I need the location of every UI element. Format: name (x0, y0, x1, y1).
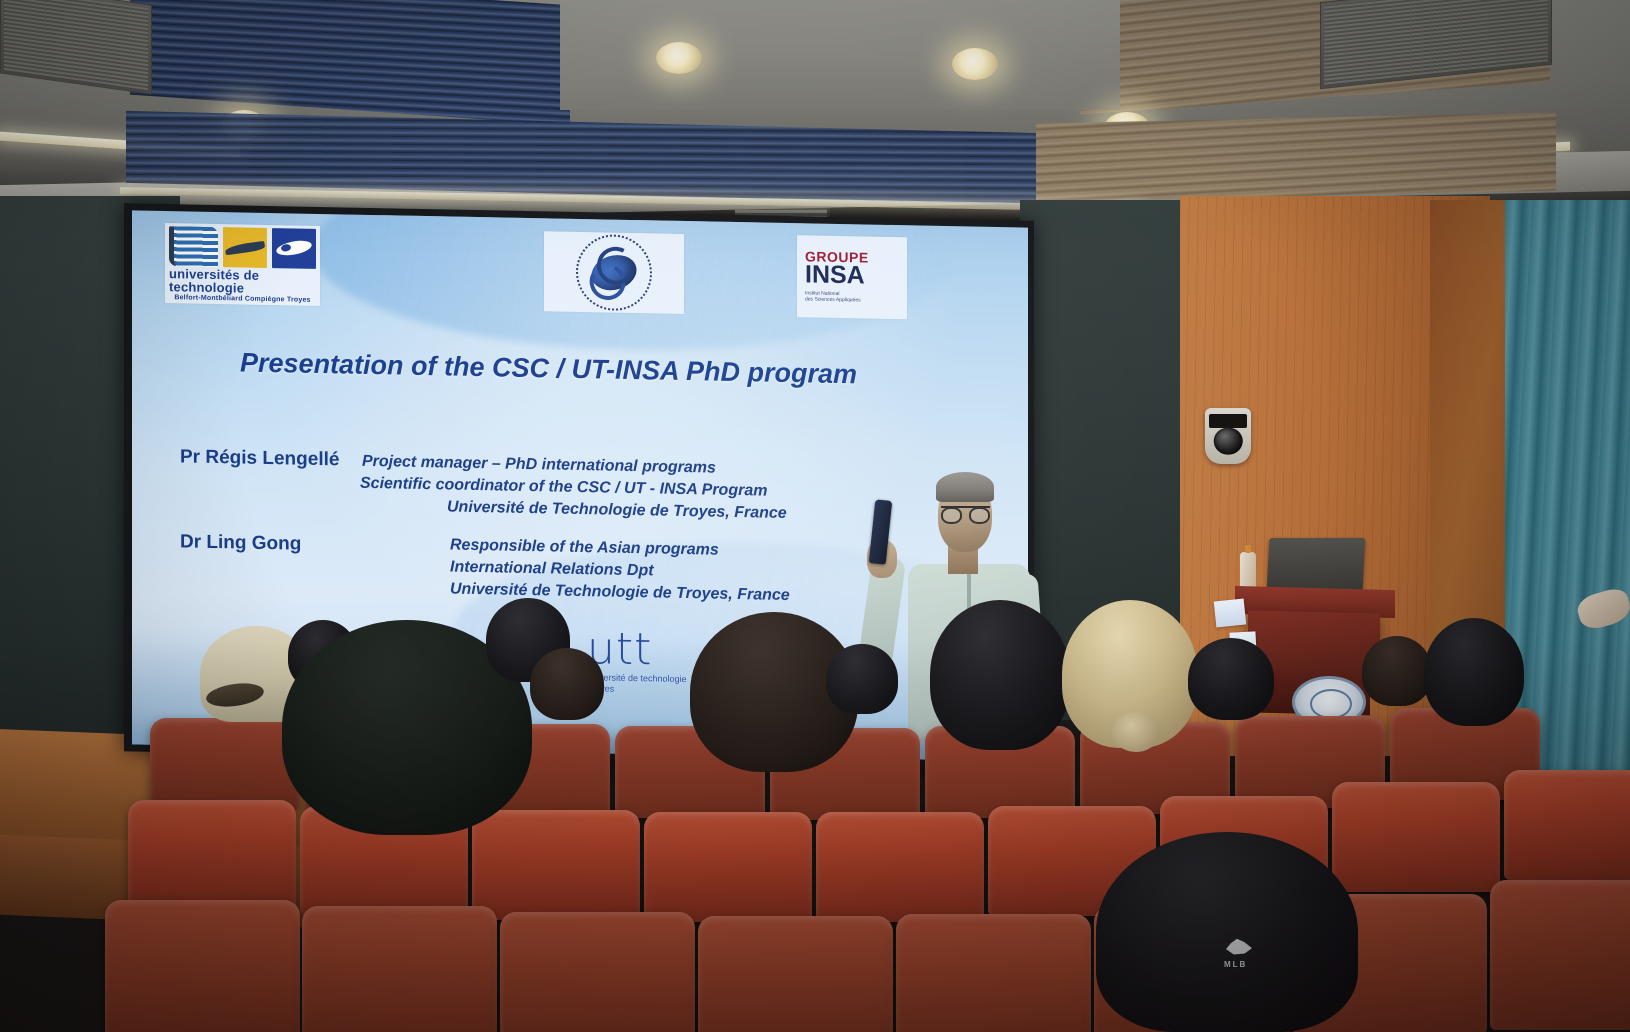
ceiling-panel-blue-left (130, 0, 570, 125)
logo-groupe-insa: GROUPE INSA Institut National des Scienc… (797, 235, 907, 319)
seat-front-2[interactable] (302, 906, 497, 1032)
wall-camera-icon (1205, 408, 1251, 464)
seat-front-3[interactable] (500, 912, 695, 1032)
hair (1424, 618, 1524, 726)
hair-bun (1112, 712, 1160, 752)
audience-member-foreground (1096, 832, 1358, 1032)
ceiling-vent-left (0, 0, 152, 95)
seat-front-8[interactable] (1490, 880, 1630, 1030)
hair (1096, 832, 1358, 1032)
wall-camera-lens-icon (1214, 428, 1243, 455)
ceiling-band-wood-lower (1036, 113, 1556, 202)
seat-mid-4[interactable] (644, 812, 812, 922)
laptop[interactable] (1267, 538, 1366, 590)
seat-mid-9[interactable] (1504, 770, 1630, 880)
seat-front-5[interactable] (896, 914, 1091, 1032)
speaker-1-line-2: Scientific coordinator of the CSC / UT -… (360, 475, 767, 501)
speaker-2-name: Dr Ling Gong (180, 531, 301, 555)
ut-logo-name: universités de technologie (169, 267, 316, 296)
audience-member-8 (1188, 638, 1274, 720)
csc-knot-icon (587, 250, 641, 296)
papers-stack-1[interactable] (1214, 599, 1247, 628)
cap-logo-text: MLB (1224, 960, 1247, 969)
audience-member-10 (1424, 618, 1524, 726)
slide-title: Presentation of the CSC / UT-INSA PhD pr… (240, 347, 857, 390)
hair (1188, 638, 1274, 720)
ceiling-light-2 (952, 48, 998, 80)
conference-hall-photo: universités de technologie Belfort-Montb… (0, 0, 1630, 1032)
audience-member-6 (826, 644, 898, 714)
speaker-1-name: Pr Régis Lengellé (180, 446, 339, 471)
hair (930, 600, 1070, 750)
seat-front-4[interactable] (698, 916, 893, 1032)
ut-logo-marks (169, 226, 316, 269)
seat-front-1[interactable] (105, 900, 300, 1032)
seat-mid-5[interactable] (816, 812, 984, 922)
ut-mark-belfort-icon (169, 226, 218, 267)
audience-member-7 (930, 600, 1070, 750)
audience-member-4 (530, 648, 604, 720)
ut-logo-campuses: Belfort-Montbéliard Compiègne Troyes (174, 294, 310, 304)
csc-ring-icon (576, 234, 652, 311)
ceiling-soffit-center (560, 0, 1120, 110)
speaker-2-line-1: Responsible of the Asian programs (450, 537, 719, 560)
insa-logo-main: INSA (805, 264, 865, 289)
ut-mark-compiegne-icon (223, 227, 267, 268)
glasses-lens-right (969, 507, 990, 524)
glasses-lens-left (941, 507, 962, 524)
hair (1362, 636, 1432, 706)
presenter-glasses-icon (941, 506, 990, 508)
presenter-hair (936, 472, 994, 502)
logo-universites-de-technologie: universités de technologie Belfort-Montb… (165, 223, 320, 306)
wall-camera-ir-strip (1209, 414, 1247, 429)
hair (530, 648, 604, 720)
hair (826, 644, 898, 714)
seat-mid-1[interactable] (128, 800, 296, 910)
speaker-1-line-3: Université de Technologie de Troyes, Fra… (447, 498, 787, 523)
insa-logo-sub-2: des Sciences Appliquées (805, 297, 861, 304)
speaker-2-line-2: International Relations Dpt (450, 559, 654, 581)
audience-member-9 (1362, 636, 1432, 706)
ceiling-light-1 (656, 42, 702, 74)
speaker-1-line-1: Project manager – PhD international prog… (362, 453, 716, 478)
ut-mark-troyes-icon (272, 228, 316, 269)
seat-back-1[interactable] (150, 718, 300, 810)
logo-china-scholarship-council (544, 231, 684, 314)
